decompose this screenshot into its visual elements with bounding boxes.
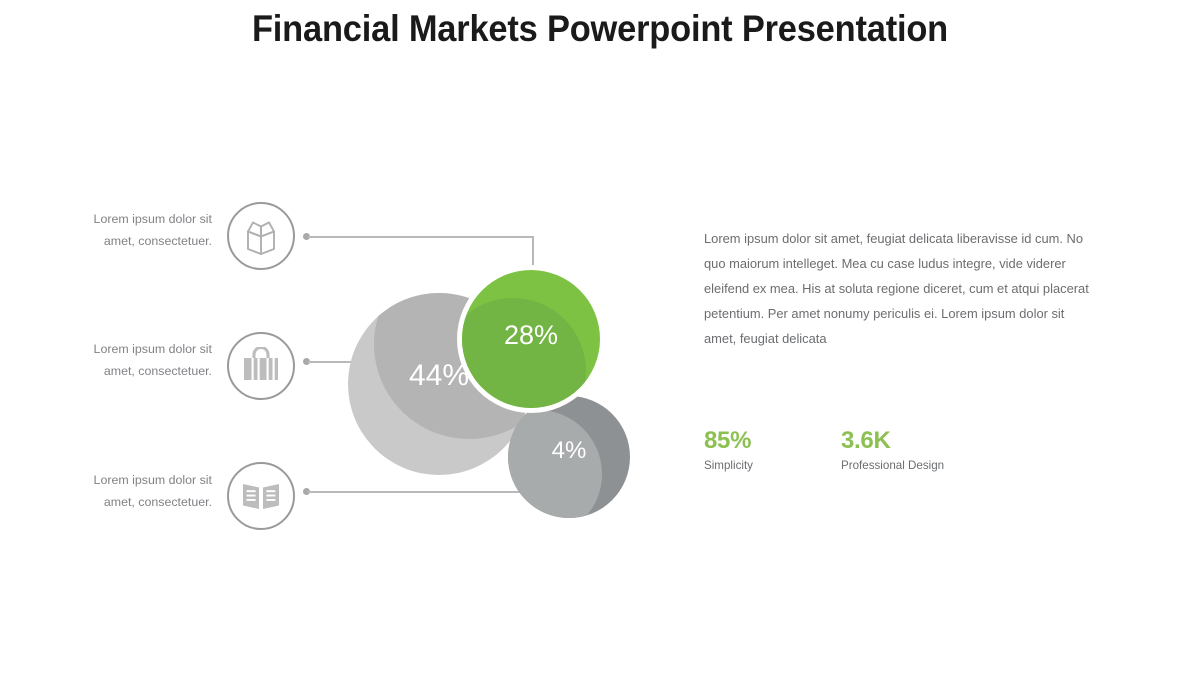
open-book-icon xyxy=(240,478,282,514)
bubble-4-value: 4% xyxy=(508,439,630,463)
stat-simplicity: 85% Simplicity xyxy=(704,428,753,472)
icon-badge-book[interactable] xyxy=(227,462,295,530)
bubble-28-shading xyxy=(462,298,586,408)
connector-line-1-horizontal xyxy=(308,236,534,238)
bubble-label-3: Lorem ipsum dolor sit amet, consectetuer… xyxy=(62,469,212,513)
bubble-28-percent[interactable]: 28% xyxy=(462,270,600,408)
stat-professional-design-caption: Professional Design xyxy=(841,459,944,472)
bubble-4-shading xyxy=(508,410,602,518)
bubble-28-percent-ring: 28% xyxy=(457,265,605,413)
bubble-label-2: Lorem ipsum dolor sit amet, consectetuer… xyxy=(62,338,212,382)
bubble-label-1: Lorem ipsum dolor sit amet, consectetuer… xyxy=(62,208,212,252)
icon-badge-box[interactable] xyxy=(227,202,295,270)
body-paragraph: Lorem ipsum dolor sit amet, feugiat deli… xyxy=(704,226,1096,351)
bubble-28-value: 28% xyxy=(462,322,600,349)
icon-badge-briefcase[interactable] xyxy=(227,332,295,400)
stat-simplicity-caption: Simplicity xyxy=(704,459,753,472)
stat-simplicity-number: 85% xyxy=(704,428,753,454)
connector-line-3-horizontal xyxy=(308,491,520,493)
box-icon xyxy=(239,216,283,256)
page-title: Financial Markets Powerpoint Presentatio… xyxy=(42,8,1158,50)
briefcase-icon xyxy=(240,347,282,385)
bubble-4-percent[interactable]: 4% xyxy=(508,396,630,518)
stat-professional-design-number: 3.6K xyxy=(841,428,944,454)
stat-professional-design: 3.6K Professional Design xyxy=(841,428,944,472)
